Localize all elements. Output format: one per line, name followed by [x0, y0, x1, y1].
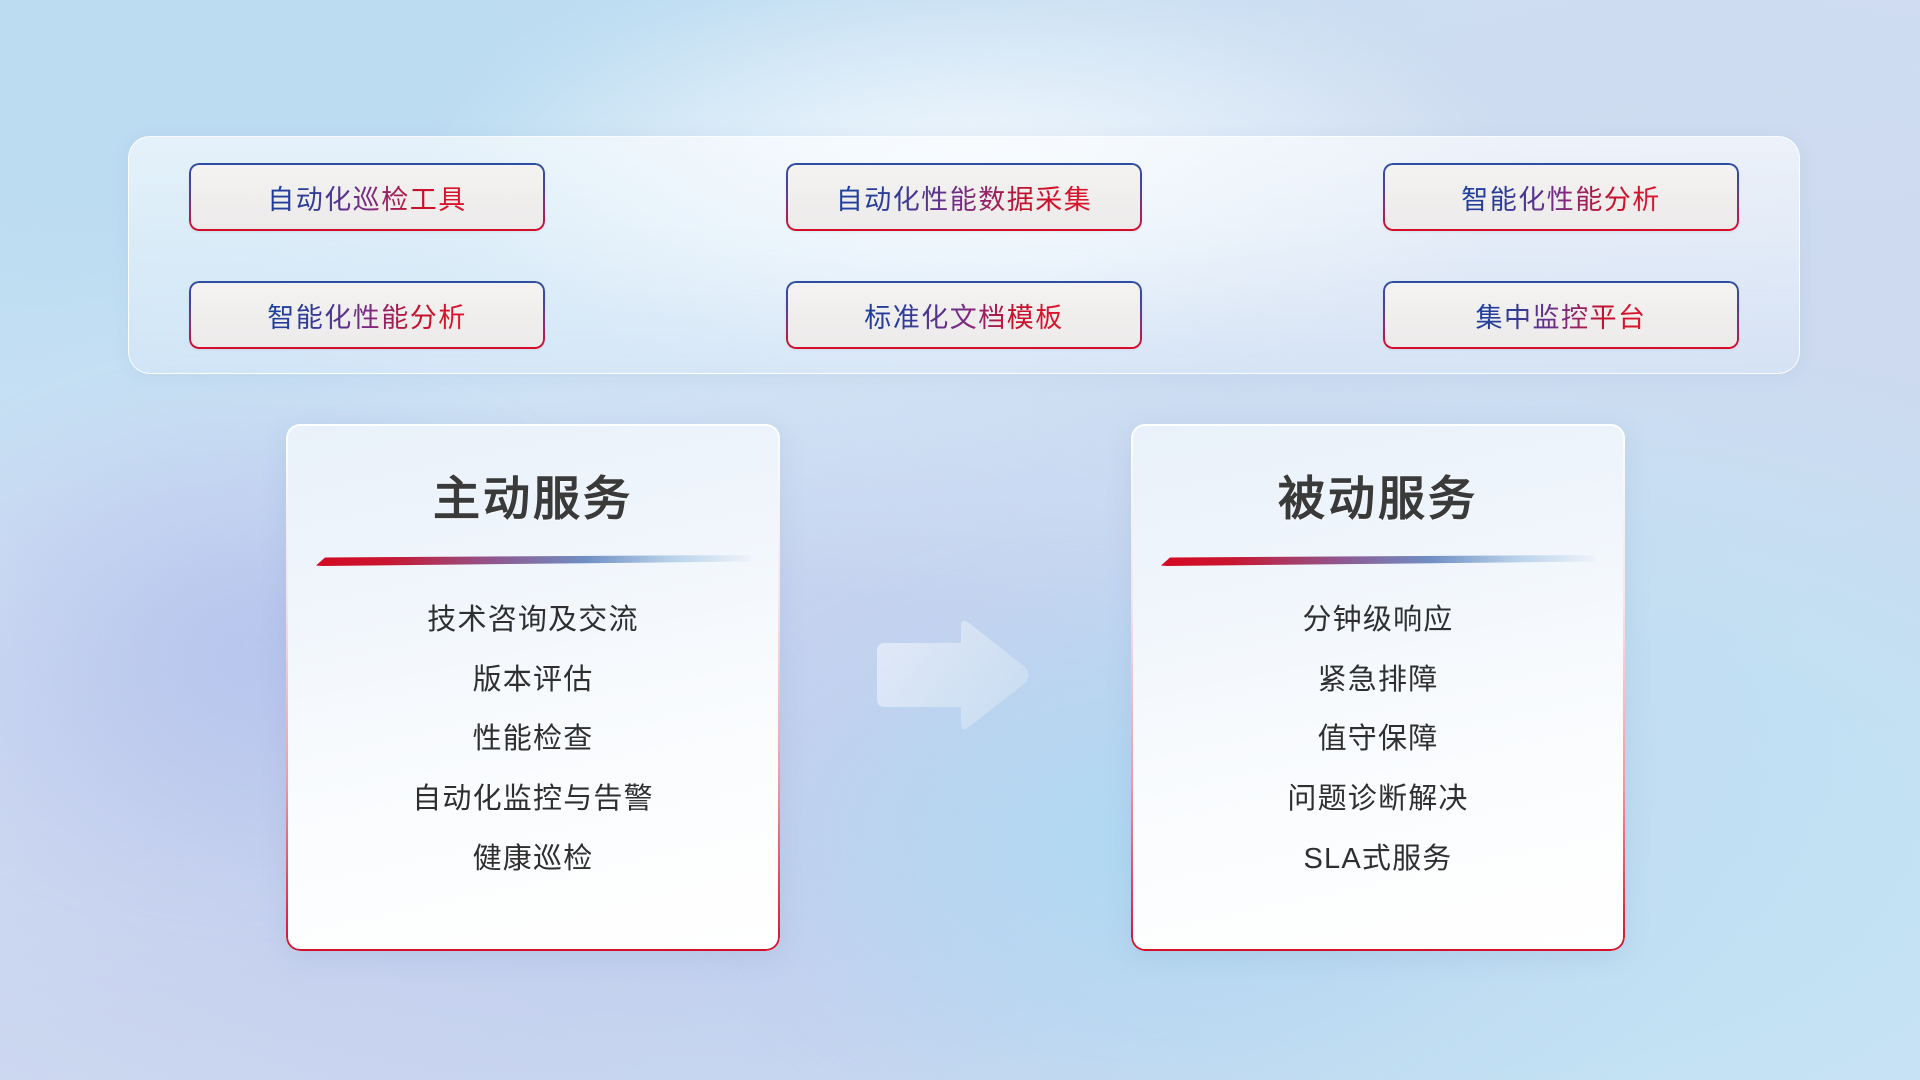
service-card-proactive[interactable]: 主动服务 技术咨询及交流 版本评估 性能检查 自动化监控与告警 健康巡检	[286, 424, 780, 951]
service-item-list: 技术咨询及交流 版本评估 性能检查 自动化监控与告警 健康巡检	[286, 602, 780, 878]
capability-chip-label: 自动化巡检工具	[267, 178, 467, 217]
capability-chip-standardized-doc-template[interactable]: 标准化文档模板	[786, 281, 1142, 349]
capability-chip-automated-inspection-tool[interactable]: 自动化巡检工具	[189, 163, 545, 231]
capability-panel: 自动化巡检工具 自动化性能数据采集 智能化性能分析 智能化性能分析 标准化文档模…	[128, 136, 1800, 374]
capability-chip-label: 标准化文档模板	[864, 296, 1064, 335]
arrow-right-icon	[869, 615, 1033, 735]
service-list-item: 紧急排障	[1318, 662, 1439, 700]
capability-chip-intelligent-performance-analysis-2[interactable]: 智能化性能分析	[189, 281, 545, 349]
service-list-item: 版本评估	[473, 662, 594, 700]
service-list-item: 健康巡检	[473, 841, 594, 879]
capability-chip-automated-performance-collection[interactable]: 自动化性能数据采集	[786, 163, 1142, 231]
capability-chip-centralized-monitoring-platform[interactable]: 集中监控平台	[1383, 281, 1739, 349]
capability-chip-intelligent-performance-analysis-1[interactable]: 智能化性能分析	[1383, 163, 1739, 231]
service-list-item: SLA式服务	[1303, 841, 1452, 879]
service-list-item: 性能检查	[473, 721, 594, 759]
service-list-item: 值守保障	[1318, 721, 1439, 759]
capability-chip-label: 自动化性能数据采集	[836, 178, 1093, 217]
capability-chip-grid: 自动化巡检工具 自动化性能数据采集 智能化性能分析 智能化性能分析 标准化文档模…	[189, 163, 1739, 349]
service-item-list: 分钟级响应 紧急排障 值守保障 问题诊断解决 SLA式服务	[1131, 602, 1625, 878]
service-card-reactive[interactable]: 被动服务 分钟级响应 紧急排障 值守保障 问题诊断解决 SLA式服务	[1131, 424, 1625, 951]
service-card-title: 被动服务	[1131, 460, 1625, 529]
capability-chip-label: 智能化性能分析	[1461, 178, 1661, 217]
service-list-item: 分钟级响应	[1302, 602, 1453, 640]
service-list-item: 问题诊断解决	[1287, 781, 1468, 819]
capability-chip-label: 智能化性能分析	[267, 296, 467, 335]
capability-chip-label: 集中监控平台	[1476, 296, 1647, 335]
service-list-item: 自动化监控与告警	[412, 781, 654, 819]
title-underline-accent	[1161, 555, 1595, 566]
service-list-item: 技术咨询及交流	[427, 602, 638, 640]
service-card-title: 主动服务	[286, 460, 780, 529]
title-underline-accent	[316, 555, 750, 566]
